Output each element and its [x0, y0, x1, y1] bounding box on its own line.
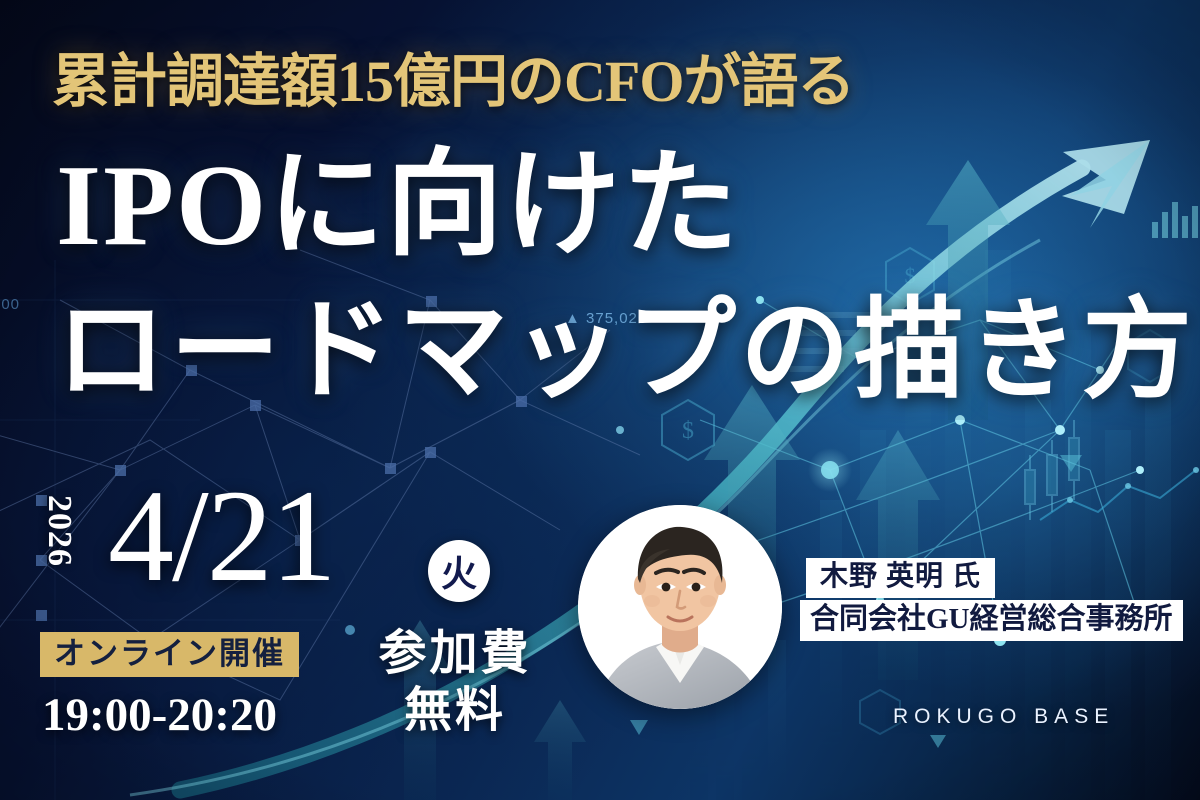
- speaker-portrait: [578, 505, 782, 709]
- main-title-line-2: ロードマップの描き方: [56, 296, 1196, 406]
- webinar-poster: $ $: [0, 0, 1200, 800]
- fee-value: 無料: [360, 683, 550, 740]
- fee-block: 参加費 無料: [360, 626, 550, 739]
- online-format-badge: オンライン開催: [40, 632, 299, 677]
- event-time: 19:00-20:20: [42, 688, 277, 742]
- main-title-line-1: IPOに向けた: [56, 148, 740, 264]
- speaker-portrait-illustration: [578, 505, 782, 709]
- speaker-organization: 合同会社GU経営総合事務所: [800, 600, 1183, 641]
- event-year: 2026: [40, 495, 78, 567]
- fee-label: 参加費: [360, 626, 550, 683]
- background-ticker-value-left: 000: [0, 296, 20, 313]
- kicker-headline: 累計調達額15億円のCFOが語る: [52, 52, 1052, 113]
- event-date: 4/21: [108, 470, 335, 602]
- brand-logo: ROKUGO BASE: [893, 705, 1114, 729]
- speaker-name: 木野 英明 氏: [806, 558, 995, 598]
- poster-content: ▲ 375,020 000 累計調達額15億円のCFOが語る IPOに向けた ロ…: [0, 0, 1200, 800]
- weekday-badge: 火: [428, 540, 490, 602]
